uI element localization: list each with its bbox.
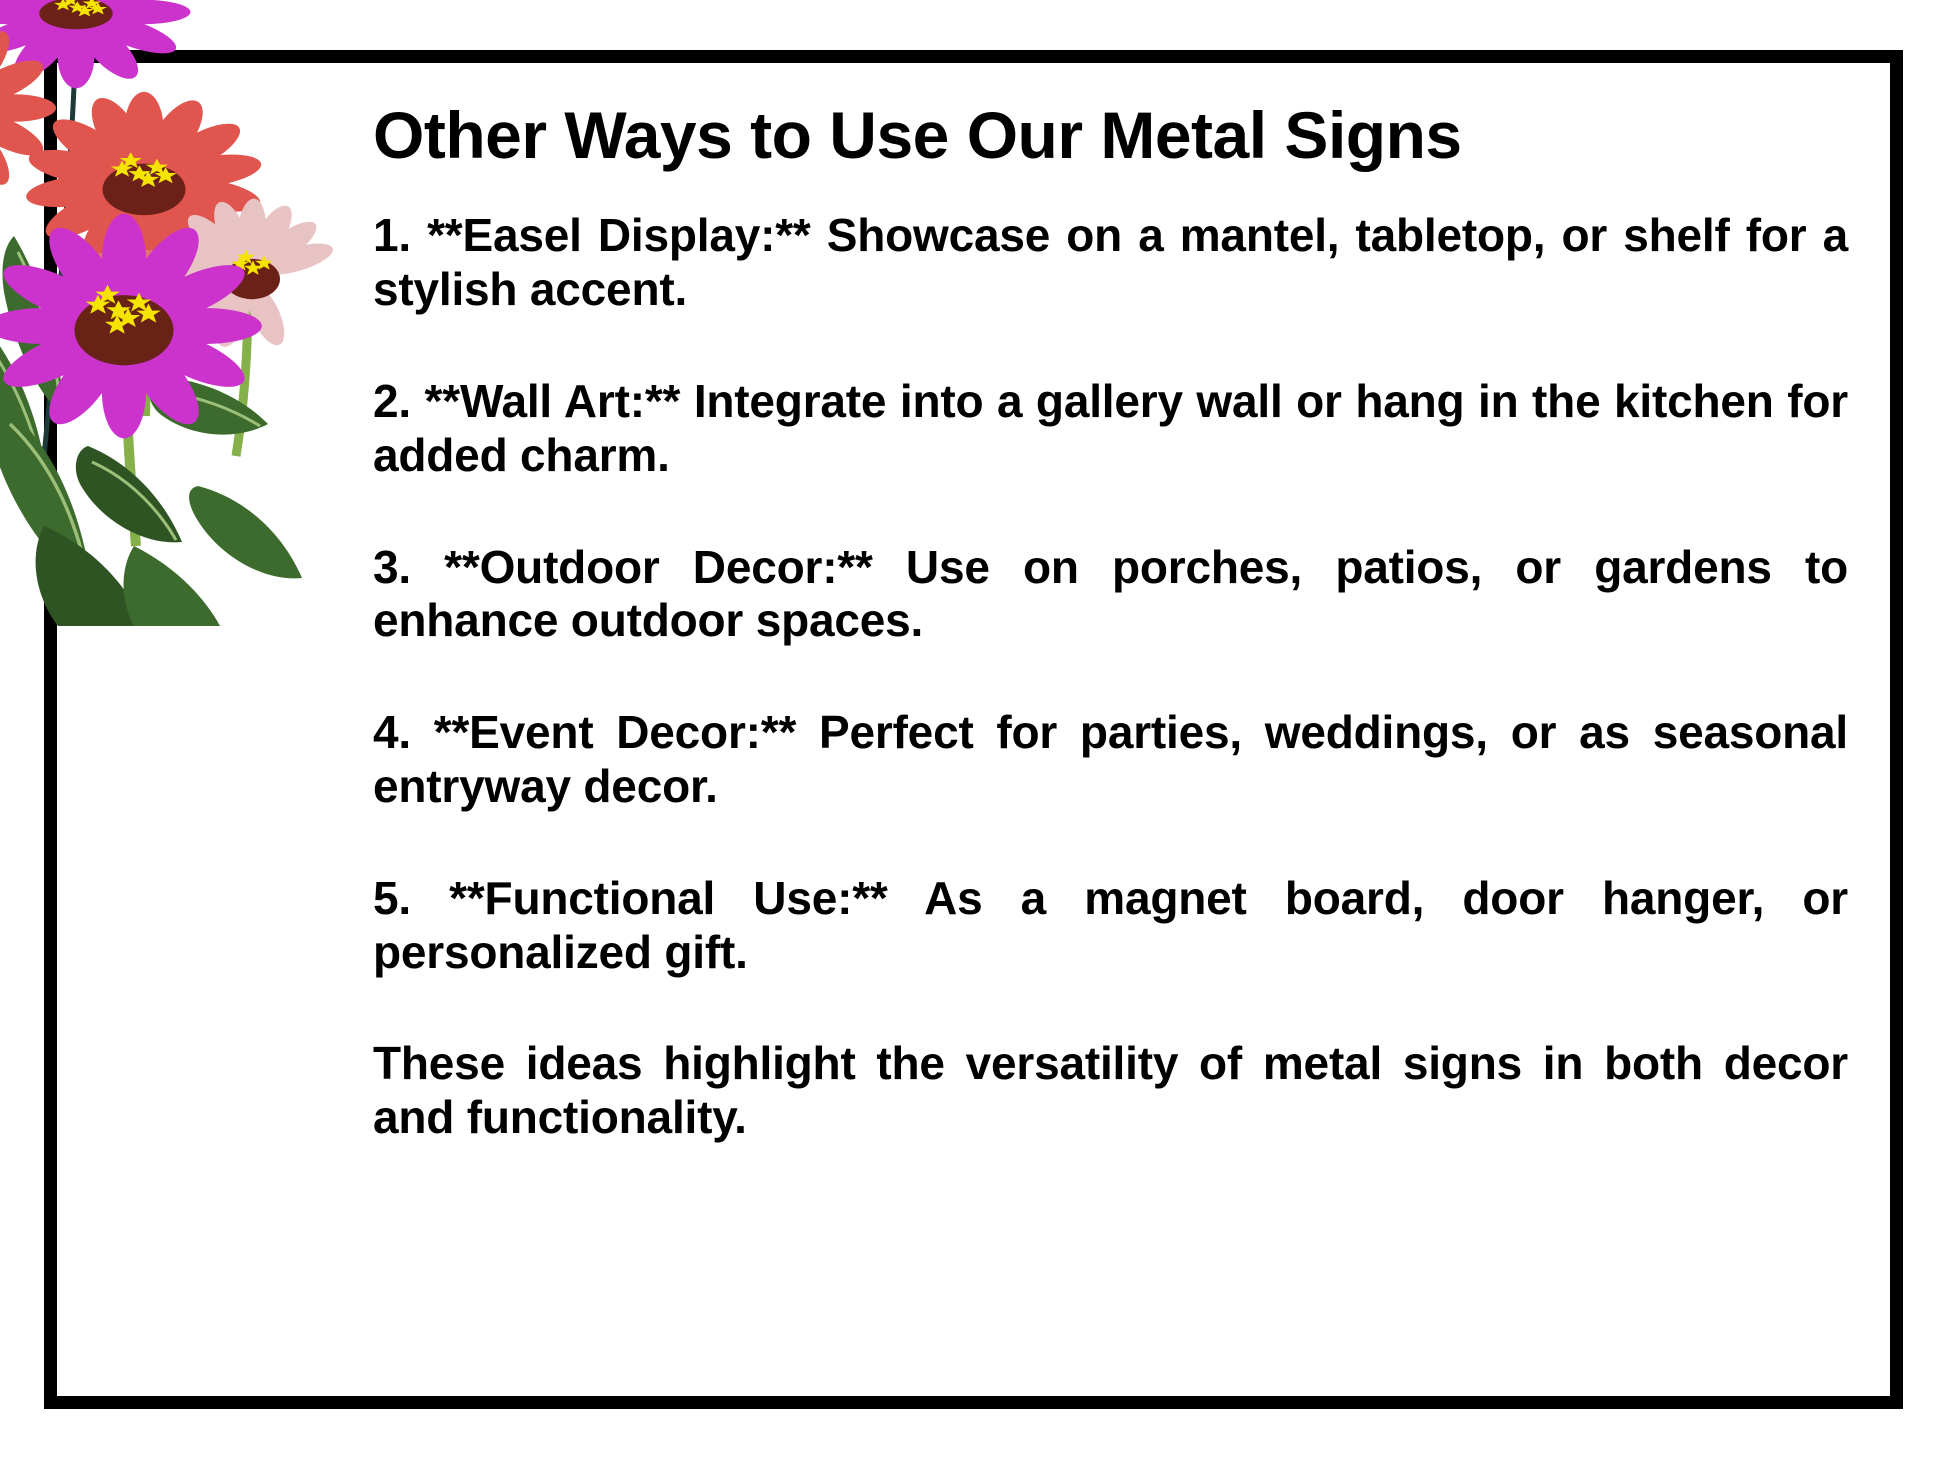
list-item-5: 5. **Functional Use:** As a magnet board… xyxy=(373,872,1848,980)
text-content-area: Other Ways to Use Our Metal Signs 1. **E… xyxy=(373,100,1848,1145)
list-item-1: 1. **Easel Display:** Showcase on a mant… xyxy=(373,209,1848,317)
slide-canvas: Other Ways to Use Our Metal Signs 1. **E… xyxy=(0,0,1946,1460)
list-item-2: 2. **Wall Art:** Integrate into a galler… xyxy=(373,375,1848,483)
list-item-3: 3. **Outdoor Decor:** Use on porches, pa… xyxy=(373,541,1848,649)
page-title: Other Ways to Use Our Metal Signs xyxy=(373,100,1848,171)
closing-paragraph: These ideas highlight the versatility of… xyxy=(373,1037,1848,1145)
list-item-4: 4. **Event Decor:** Perfect for parties,… xyxy=(373,706,1848,814)
